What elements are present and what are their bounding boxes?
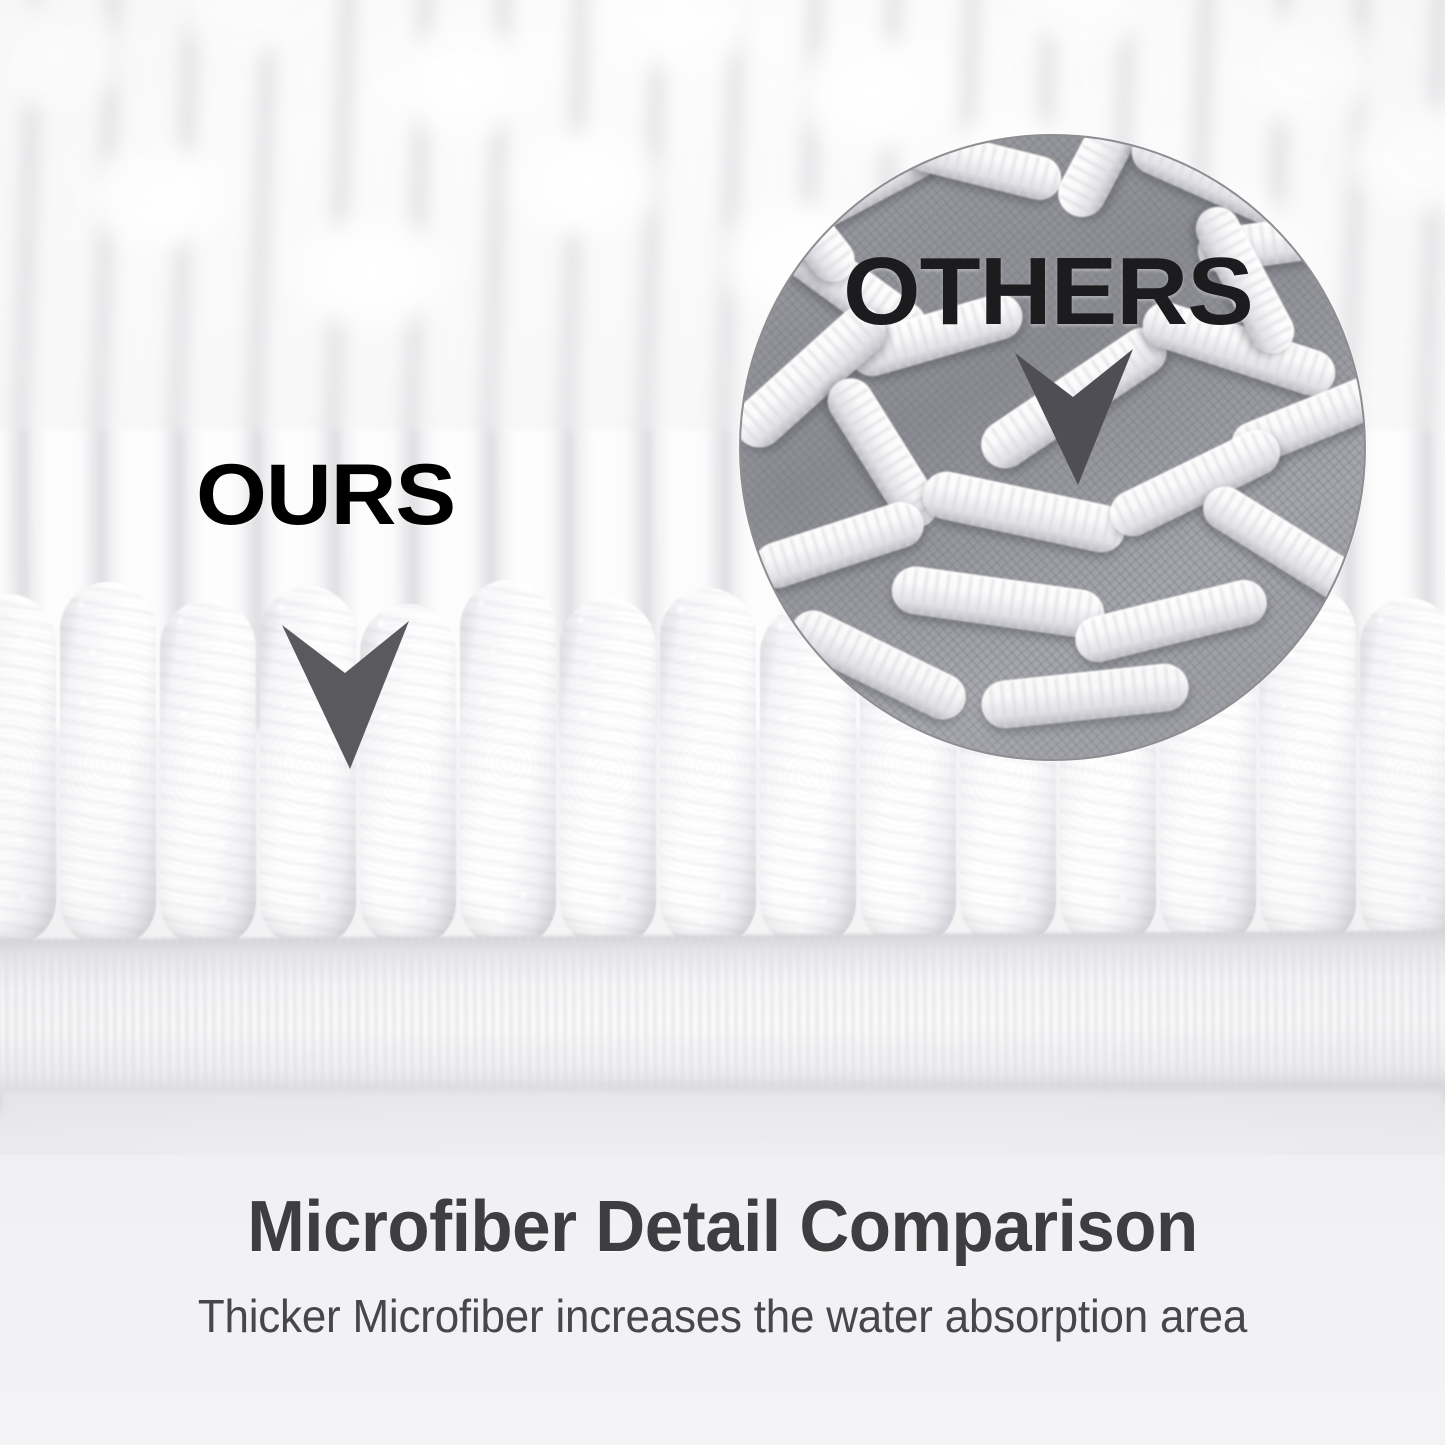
thin-fiber-loop — [1070, 575, 1271, 667]
ours-down-arrow-icon — [278, 617, 413, 772]
caption-subtitle: Thicker Microfiber increases the water a… — [33, 1264, 1413, 1340]
thin-fiber-loop — [900, 134, 1066, 205]
chenille-tuft — [160, 600, 256, 948]
chenille-tuft — [60, 582, 156, 948]
product-photo: OURS — [0, 0, 1445, 1160]
comparison-image: OURS — [0, 0, 1445, 1445]
caption-title: Microfiber Detail Comparison — [29, 1155, 1416, 1264]
caption-block: Microfiber Detail Comparison Thicker Mic… — [0, 1155, 1445, 1445]
thin-fiber-loop — [889, 563, 1108, 640]
others-down-arrow-icon — [1012, 347, 1136, 487]
thin-fiber-loop — [979, 661, 1191, 730]
thin-fiber-loop — [783, 603, 974, 728]
others-label: OTHERS — [843, 244, 1253, 340]
ours-label: OURS — [196, 452, 455, 538]
chenille-tuft — [1360, 598, 1445, 948]
floor-fade — [0, 1090, 1445, 1160]
chenille-tuft — [0, 594, 56, 946]
chenille-tuft — [560, 598, 656, 948]
chenille-tuft — [460, 580, 556, 948]
